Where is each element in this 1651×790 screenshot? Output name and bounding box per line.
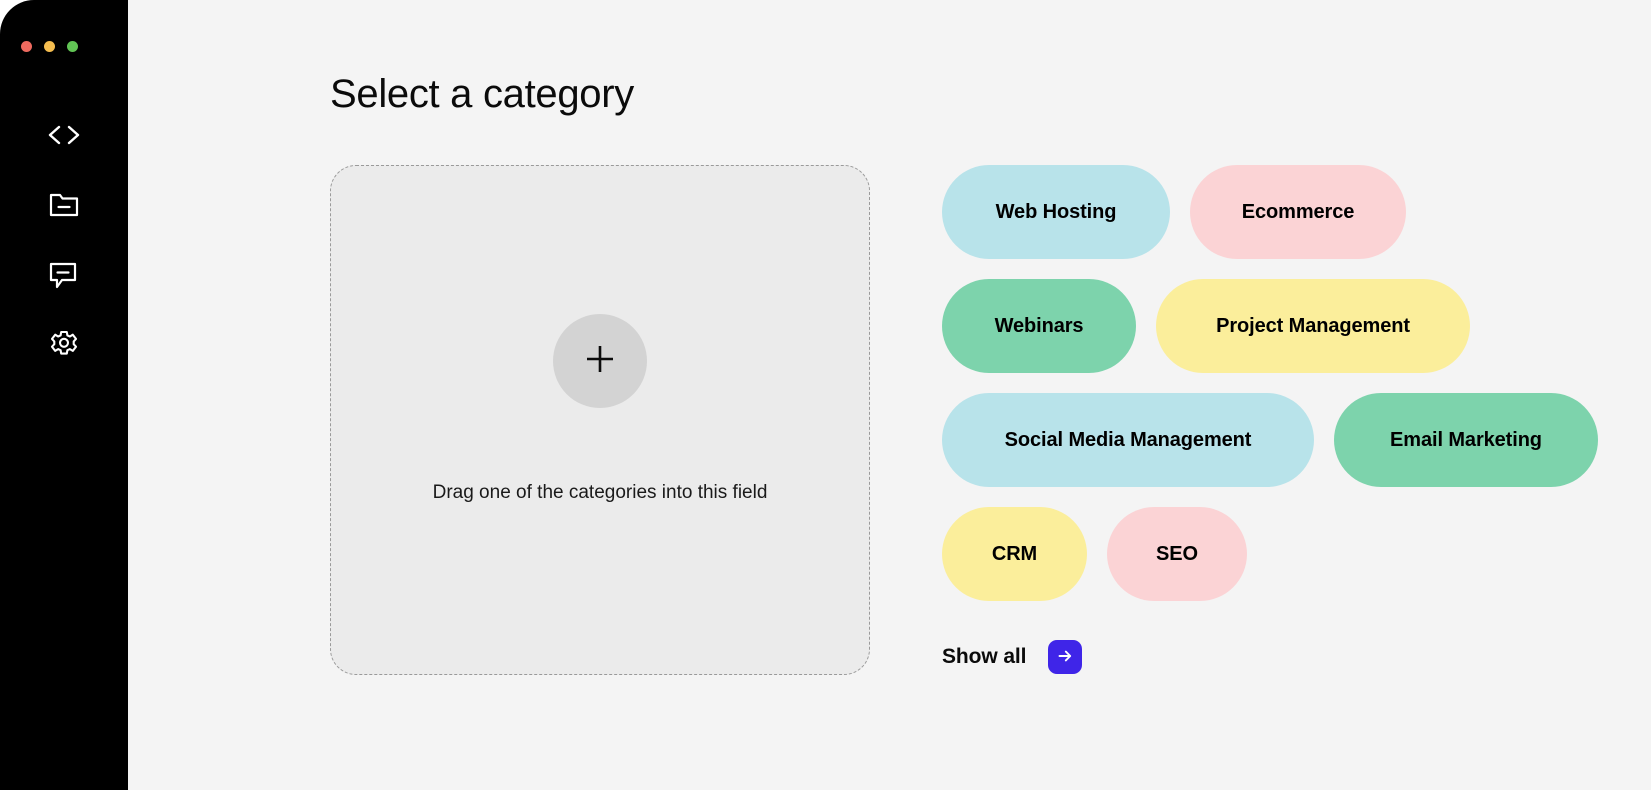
gear-icon [49,330,79,360]
sidebar-item-messages[interactable] [36,252,92,298]
code-brackets-icon [47,124,81,146]
category-row: Social Media Management Email Marketing [942,393,1642,487]
sidebar-item-files[interactable] [36,182,92,228]
show-all-row: Show all [942,640,1082,674]
show-all-link[interactable]: Show all [942,645,1026,669]
page-title: Select a category [330,70,634,118]
show-all-arrow-button[interactable] [1048,640,1082,674]
category-pill-email-marketing[interactable]: Email Marketing [1334,393,1598,487]
sidebar-item-settings[interactable] [36,322,92,368]
category-row: Web Hosting Ecommerce [942,165,1642,259]
category-pill-social-media-management[interactable]: Social Media Management [942,393,1314,487]
app-window: Select a category Drag one of the catego… [0,0,1651,790]
category-pill-webinars[interactable]: Webinars [942,279,1136,373]
sidebar-nav [0,112,128,392]
category-row: Webinars Project Management [942,279,1642,373]
category-pill-ecommerce[interactable]: Ecommerce [1190,165,1406,259]
minimize-window-button[interactable] [44,41,55,52]
category-pill-web-hosting[interactable]: Web Hosting [942,165,1170,259]
folder-minus-icon [49,192,79,218]
plus-icon [583,342,617,381]
add-category-button[interactable] [553,314,647,408]
dropzone-hint-text: Drag one of the categories into this fie… [420,479,780,507]
arrow-right-icon [1056,647,1074,668]
category-row: CRM SEO [942,507,1642,601]
category-pill-crm[interactable]: CRM [942,507,1087,601]
category-dropzone[interactable]: Drag one of the categories into this fie… [330,165,870,675]
sidebar [0,0,128,790]
main-content: Select a category Drag one of the catego… [128,0,1651,790]
category-pill-seo[interactable]: SEO [1107,507,1247,601]
sidebar-item-code[interactable] [36,112,92,158]
message-minus-icon [49,262,79,289]
close-window-button[interactable] [21,41,32,52]
category-pill-project-management[interactable]: Project Management [1156,279,1470,373]
maximize-window-button[interactable] [67,41,78,52]
traffic-lights [21,41,78,52]
category-pill-grid: Web Hosting Ecommerce Webinars Project M… [942,165,1642,601]
